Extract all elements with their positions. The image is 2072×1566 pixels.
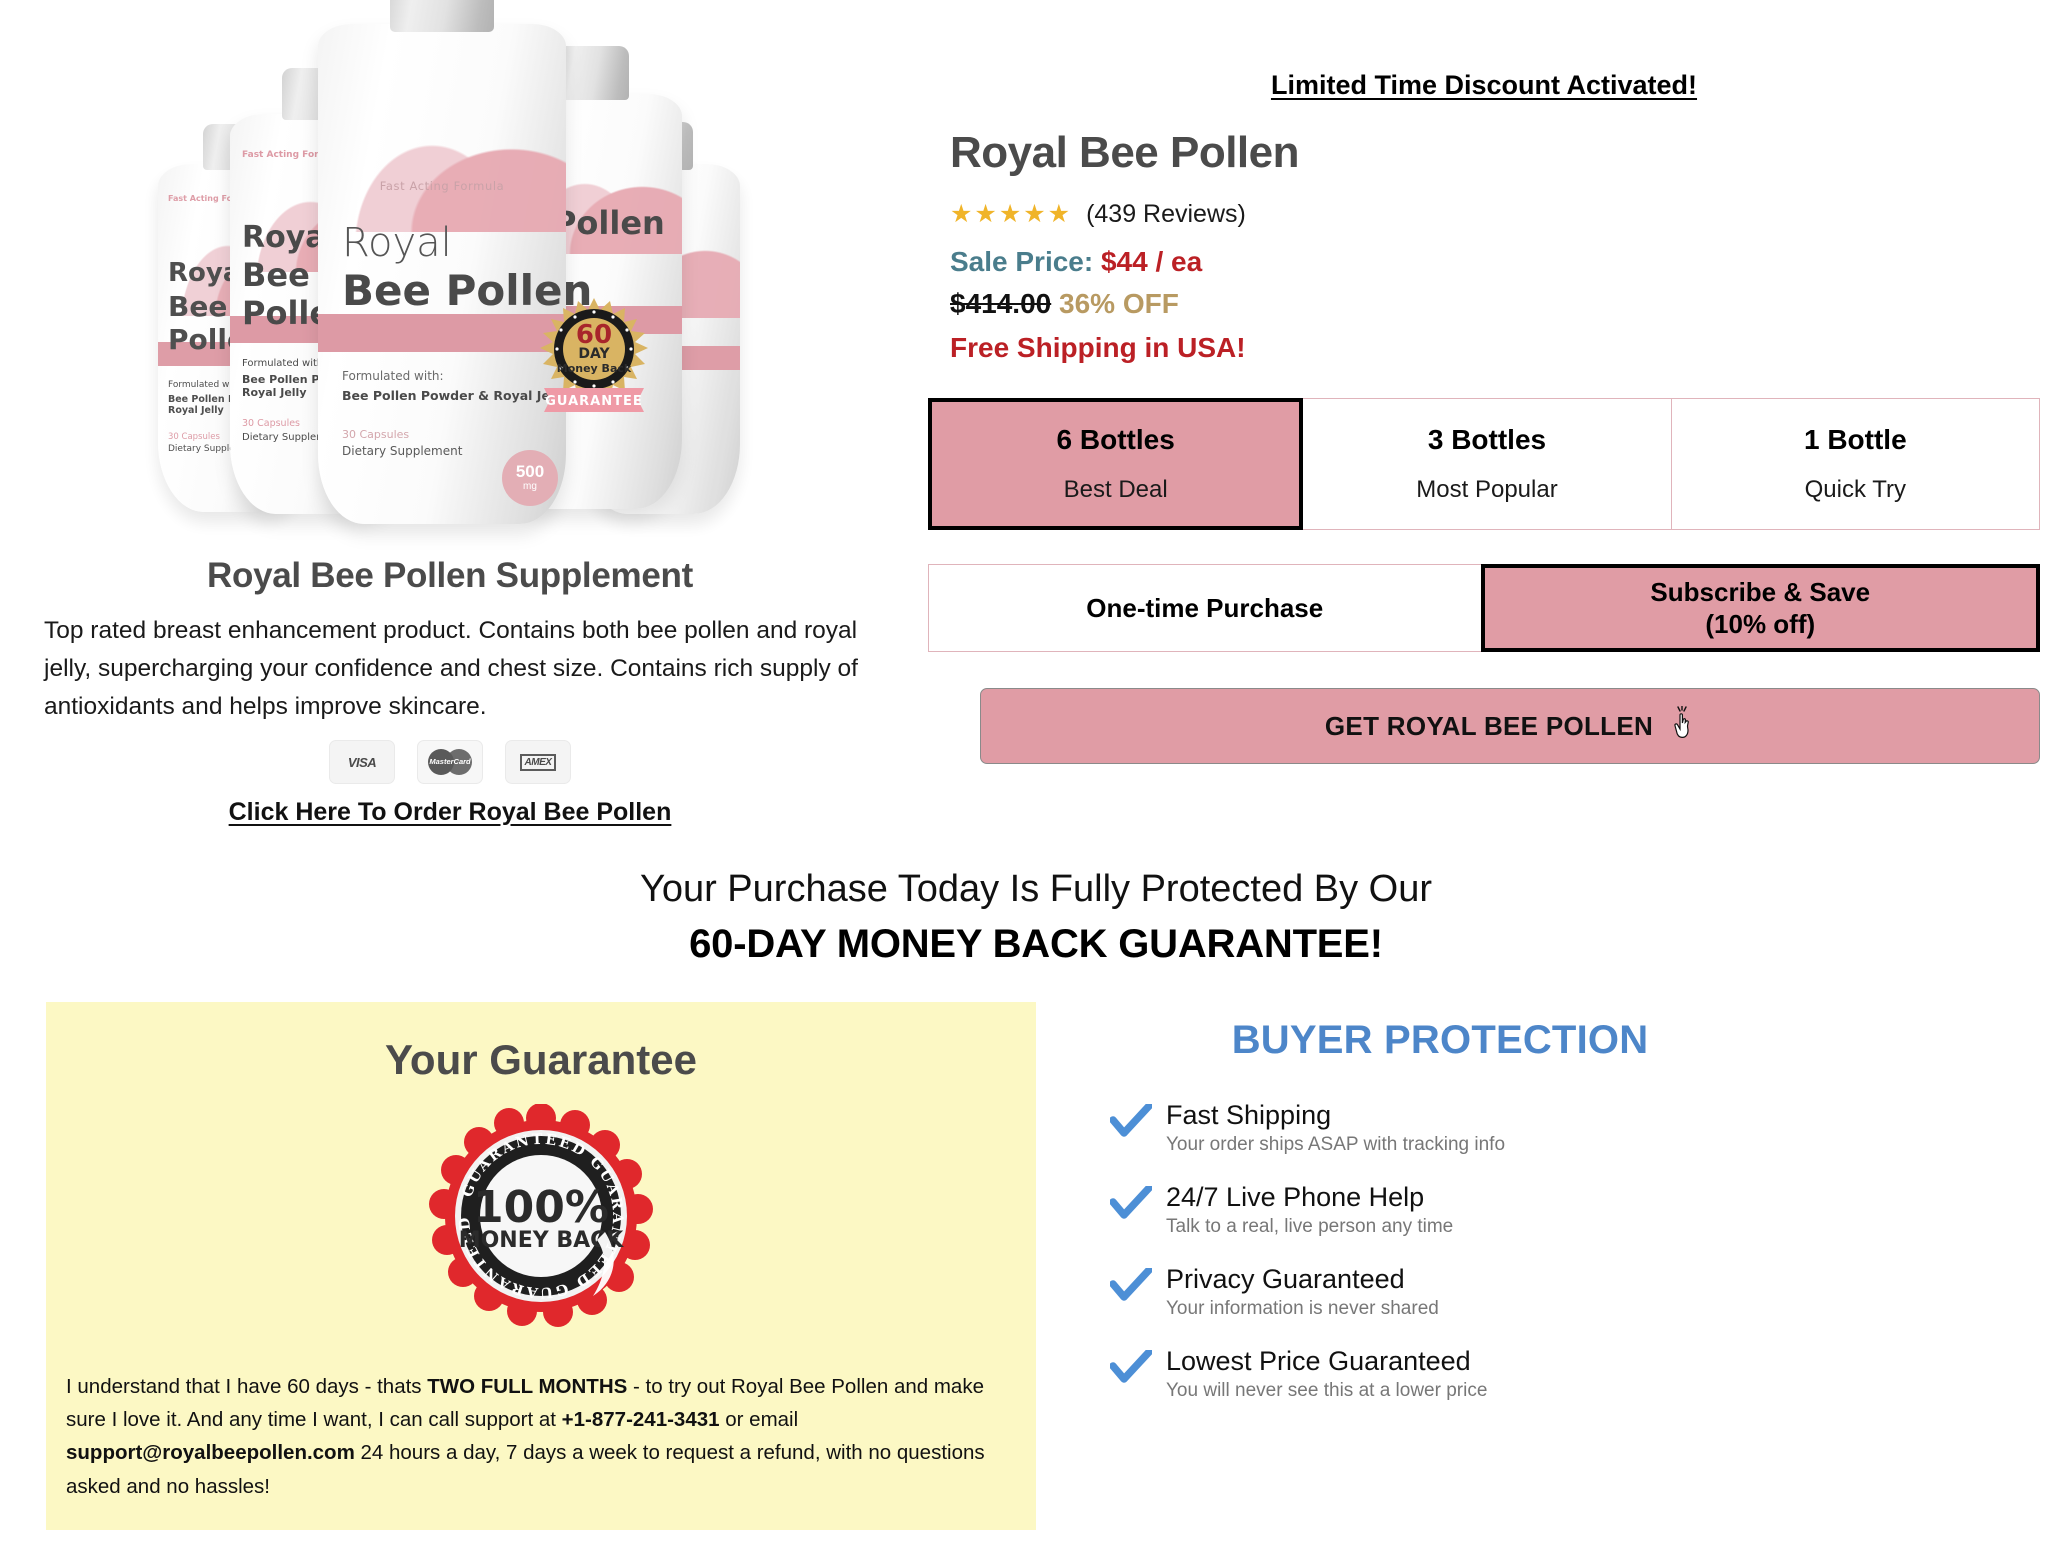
sale-price-value: $44 / ea <box>1101 246 1202 277</box>
sale-price-label: Sale Price: <box>950 246 1093 277</box>
list-item-heading: Privacy Guaranteed <box>1166 1264 1810 1295</box>
get-royal-bee-pollen-button[interactable]: GET ROYAL BEE POLLEN <box>980 688 2040 764</box>
list-item: 24/7 Live Phone Help Talk to a real, liv… <box>1110 1182 1810 1238</box>
bottle-cap <box>555 46 629 100</box>
svg-text:Money Back: Money Back <box>557 362 632 375</box>
bottle-formulated-label: Formulated with: <box>242 358 327 369</box>
package-subtitle: Quick Try <box>1805 476 1906 504</box>
visa-card-icon: VISA <box>329 740 395 784</box>
svg-text:100%: 100% <box>473 1182 609 1233</box>
svg-text:DAY: DAY <box>578 346 610 362</box>
visa-label: VISA <box>348 755 376 770</box>
guarantee-box: Your Guarantee <box>46 1002 1036 1530</box>
sale-price-line: Sale Price: $44 / ea <box>950 246 1202 278</box>
bottle-brand-line1: Royal <box>342 220 452 266</box>
list-item-sub: Your information is never shared <box>1166 1298 1810 1320</box>
purchase-plan-options: One-time Purchase Subscribe & Save (10% … <box>928 564 2040 652</box>
hero-section: Fast Acting Formula Royal Bee Pollen For… <box>0 0 2072 860</box>
check-icon <box>1110 1104 1152 1138</box>
product-subtitle: Royal Bee Pollen Supplement <box>0 556 900 596</box>
check-icon <box>1110 1350 1152 1384</box>
guarantee-body-email: support@royalbeepollen.com <box>66 1441 355 1464</box>
svg-text:GUARANTEE: GUARANTEE <box>545 394 642 409</box>
list-item: Fast Shipping Your order ships ASAP with… <box>1110 1100 1810 1156</box>
review-count: (439 Reviews) <box>1086 200 1246 229</box>
package-subtitle: Best Deal <box>1064 476 1168 504</box>
bottle-formulated-label: Formulated with: <box>342 369 444 383</box>
guarantee-body-phone: +1-877-241-3431 <box>562 1408 720 1431</box>
guarantee-body-bold-months: TWO FULL MONTHS <box>427 1375 627 1398</box>
package-option-1-bottle[interactable]: 1 Bottle Quick Try <box>1671 398 2040 530</box>
guarantee-headline-line2: 60-DAY MONEY BACK GUARANTEE! <box>0 922 2072 967</box>
guarantee-box-title: Your Guarantee <box>46 1036 1036 1084</box>
list-item-sub: Your order ships ASAP with tracking info <box>1166 1134 1810 1156</box>
limited-time-banner: Limited Time Discount Activated! <box>928 70 2040 101</box>
amex-label: AMEX <box>520 754 557 771</box>
buyer-protection-list: Fast Shipping Your order ships ASAP with… <box>1110 1100 1810 1428</box>
bottle-cap <box>390 0 494 32</box>
list-item-heading: 24/7 Live Phone Help <box>1166 1182 1810 1213</box>
guarantee-body-mid2: or email <box>720 1408 799 1431</box>
order-link[interactable]: Click Here To Order Royal Bee Pollen <box>0 798 900 827</box>
list-item: Lowest Price Guaranteed You will never s… <box>1110 1346 1810 1402</box>
bottle-band <box>318 314 566 352</box>
bottle-dose-badge: 500 mg <box>502 450 558 506</box>
bottle-swoosh <box>318 72 566 232</box>
plan-label: Subscribe & Save (10% off) <box>1650 576 1870 641</box>
package-option-6-bottles[interactable]: 6 Bottles Best Deal <box>928 398 1303 530</box>
product-description: Top rated breast enhancement product. Co… <box>44 612 864 726</box>
old-price: $414.00 <box>950 288 1051 319</box>
bottle-tagline: Fast Acting Formula <box>318 179 566 193</box>
package-title: 3 Bottles <box>1428 424 1546 456</box>
list-item-heading: Lowest Price Guaranteed <box>1166 1346 1810 1377</box>
discount-percent: 36% OFF <box>1059 288 1179 319</box>
package-title: 1 Bottle <box>1804 424 1907 456</box>
bottle-dose-value: 500 <box>516 463 544 480</box>
bottle-capsules: 30 Capsules <box>168 432 220 442</box>
star-rating-icon: ★★★★★ <box>950 202 1072 227</box>
buyer-protection-title: BUYER PROTECTION <box>1100 1018 1780 1063</box>
mastercard-icon: MasterCard <box>417 740 483 784</box>
bottle-supplement: Dietary Supplement <box>342 444 462 458</box>
guarantee-box-body: I understand that I have 60 days - thats… <box>66 1370 1016 1503</box>
plan-option-one-time[interactable]: One-time Purchase <box>928 564 1482 652</box>
plan-option-subscribe-save[interactable]: Subscribe & Save (10% off) <box>1481 564 2041 652</box>
mastercard-label: MasterCard <box>428 757 472 766</box>
product-bottles-image: Fast Acting Formula Royal Bee Pollen For… <box>150 14 770 519</box>
list-item-sub: You will never see this at a lower price <box>1166 1380 1810 1402</box>
old-price-line: $414.00 36% OFF <box>950 288 1179 320</box>
guarantee-headline-line1: Your Purchase Today Is Fully Protected B… <box>0 868 2072 911</box>
bottle-capsules: 30 Capsules <box>242 418 300 429</box>
package-option-3-bottles[interactable]: 3 Bottles Most Popular <box>1302 398 1671 530</box>
bottle-capsules: 30 Capsules <box>342 428 409 441</box>
package-subtitle: Most Popular <box>1416 476 1557 504</box>
click-cursor-icon <box>1669 706 1695 740</box>
amex-card-icon: AMEX <box>505 740 571 784</box>
free-shipping-note: Free Shipping in USA! <box>950 332 1246 364</box>
product-bottle-front: Fast Acting Formula Royal Bee Pollen For… <box>318 24 566 524</box>
seal-100-percent-money-back-icon: GUARANTEED GUARANTEED GUARANTEED GUARANT… <box>429 1104 653 1328</box>
cta-label: GET ROYAL BEE POLLEN <box>1325 711 1653 742</box>
check-icon <box>1110 1186 1152 1220</box>
guarantee-body-prefix: I understand that I have 60 days - thats <box>66 1375 427 1398</box>
bottle-dose-unit: mg <box>523 480 537 493</box>
seal-60-day-money-back-icon: 60 DAY Money Back GUARANTEE <box>530 296 658 424</box>
list-item: Privacy Guaranteed Your information is n… <box>1110 1264 1810 1320</box>
package-options: 6 Bottles Best Deal 3 Bottles Most Popul… <box>928 398 2040 530</box>
check-icon <box>1110 1268 1152 1302</box>
list-item-sub: Talk to a real, live person any time <box>1166 1216 1810 1238</box>
page-title: Royal Bee Pollen <box>950 128 1299 178</box>
package-title: 6 Bottles <box>1057 424 1175 456</box>
plan-label: One-time Purchase <box>1086 592 1323 625</box>
rating-row: ★★★★★ (439 Reviews) <box>950 200 1246 229</box>
list-item-heading: Fast Shipping <box>1166 1100 1810 1131</box>
payment-methods: VISA MasterCard AMEX <box>0 740 900 784</box>
landing-page: Fast Acting Formula Royal Bee Pollen For… <box>0 0 2072 1566</box>
